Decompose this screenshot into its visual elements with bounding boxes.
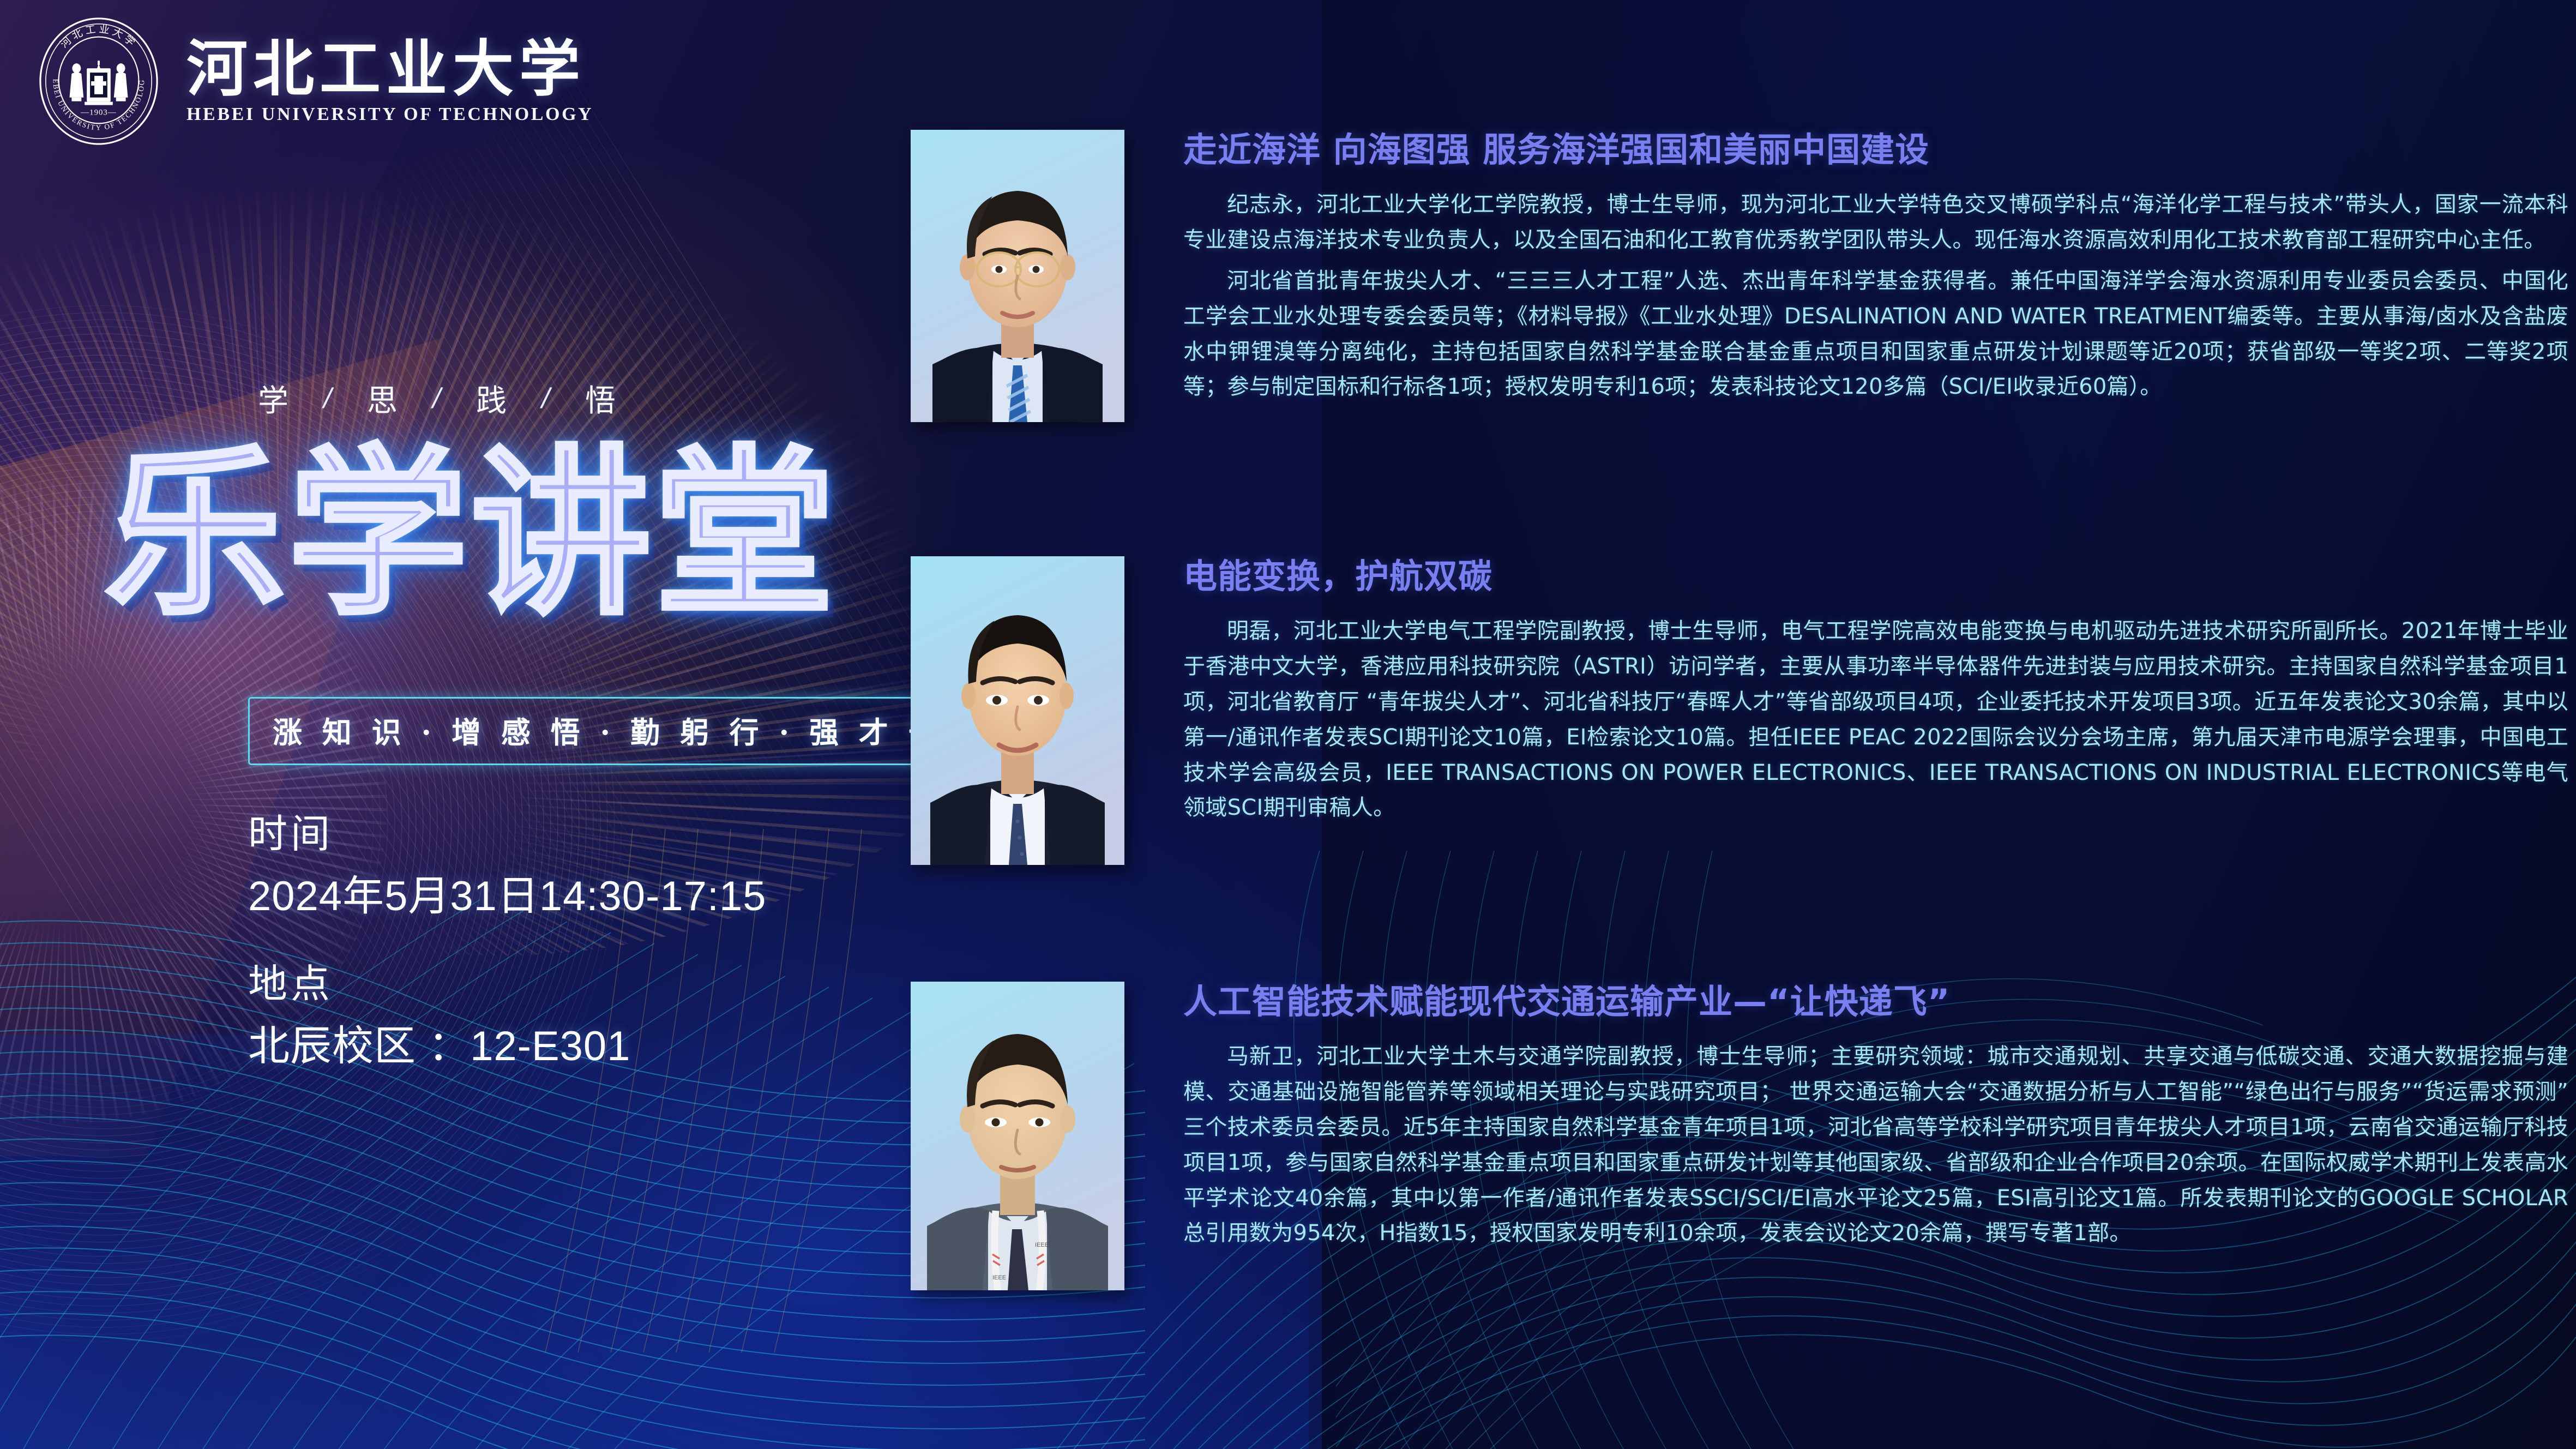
talk-title: 人工智能技术赋能现代交通运输产业—“让快递飞”	[1183, 983, 2568, 1020]
place-label: 地点	[248, 952, 767, 1009]
talk-body: 走近海洋 向海图强 服务海洋强国和美丽中国建设 纪志永，河北工业大学化工学院教授…	[1183, 130, 2568, 422]
event-info: 时间 2024年5月31日14:30-17:15 地点 北辰校区 ：12-E30…	[248, 802, 767, 1072]
kicker-char-2: 践	[458, 376, 526, 420]
kicker-sep-1: /	[413, 382, 462, 415]
speaker-photo: IEEEIEEE	[911, 982, 1124, 1290]
svg-text:IEEE: IEEE	[992, 1274, 1006, 1281]
kicker-sep-0: /	[304, 382, 353, 415]
university-crest-logo: —1903— 河北工业大学 HEBEI UNIVERSITY OF TECHNO…	[34, 16, 164, 146]
talk-paragraph: 马新卫，河北工业大学土木与交通学院副教授，博士生导师；主要研究领域：城市交通规划…	[1183, 1039, 2568, 1251]
talk-paragraph: 明磊，河北工业大学电气工程学院副教授，博士生导师，电气工程学院高效电能变换与电机…	[1183, 614, 2568, 826]
talk-body: 人工智能技术赋能现代交通运输产业—“让快递飞” 马新卫，河北工业大学土木与交通学…	[1183, 982, 2568, 1290]
tagline-badge: 涨 知 识 · 增 感 悟 · 勤 躬 行 · 强 才 干	[248, 697, 967, 765]
talk-body: 电能变换，护航双碳 明磊，河北工业大学电气工程学院副教授，博士生导师，电气工程学…	[1183, 556, 2568, 865]
talk-entry: 走近海洋 向海图强 服务海洋强国和美丽中国建设 纪志永，河北工业大学化工学院教授…	[911, 130, 2568, 422]
talk-title: 走近海洋 向海图强 服务海洋强国和美丽中国建设	[1183, 131, 2568, 169]
place-value: 北辰校区 ：12-E301	[248, 1012, 767, 1072]
svg-text:IEEE: IEEE	[1035, 1242, 1049, 1248]
university-name-en: HEBEI UNIVERSITY OF TECHNOLOGY	[186, 104, 593, 125]
talk-title: 电能变换，护航双碳	[1183, 557, 2568, 595]
kicker-char-3: 悟	[567, 376, 635, 420]
time-value: 2024年5月31日14:30-17:15	[248, 862, 767, 922]
crest-year: —1903—	[80, 108, 116, 117]
kicker-char-0: 学	[240, 376, 308, 420]
talk-paragraph: 纪志永，河北工业大学化工学院教授，博士生导师，现为河北工业大学特色交叉博硕学科点…	[1183, 187, 2568, 258]
university-name-cn: 河北工业大学	[186, 38, 593, 101]
masthead-title: 乐学讲堂	[105, 444, 838, 624]
speaker-photo	[911, 130, 1124, 422]
talk-entry: 电能变换，护航双碳 明磊，河北工业大学电气工程学院副教授，博士生导师，电气工程学…	[911, 556, 2568, 865]
university-wordmark: 河北工业大学 HEBEI UNIVERSITY OF TECHNOLOGY	[186, 38, 593, 125]
svg-text:—1903—: —1903—	[80, 108, 116, 117]
kicker-char-1: 思	[349, 376, 417, 420]
kicker-sep-2: /	[522, 382, 571, 415]
masthead-kicker: 学 / 思 / 践 / 悟	[240, 376, 635, 420]
speaker-photo	[911, 556, 1124, 865]
left-column: 学 / 思 / 践 / 悟 乐学讲堂 涨 知 识 · 增 感 悟 · 勤 躬 行…	[0, 0, 927, 1449]
poster-root: —1903— 河北工业大学 HEBEI UNIVERSITY OF TECHNO…	[0, 0, 2576, 1449]
talk-paragraph: 河北省首批青年拔尖人才、“三三三人才工程”人选、杰出青年科学基金获得者。兼任中国…	[1183, 263, 2568, 405]
university-branding: —1903— 河北工业大学 HEBEI UNIVERSITY OF TECHNO…	[34, 16, 593, 146]
time-label: 时间	[248, 802, 767, 859]
tagline-text: 涨 知 识 · 增 感 悟 · 勤 躬 行 · 强 才 干	[273, 708, 943, 751]
talk-entry: IEEEIEEE	[911, 982, 2568, 1290]
masthead-title-block: 乐学讲堂	[105, 420, 868, 649]
talks-column: 走近海洋 向海图强 服务海洋强国和美丽中国建设 纪志永，河北工业大学化工学院教授…	[911, 0, 2576, 1449]
